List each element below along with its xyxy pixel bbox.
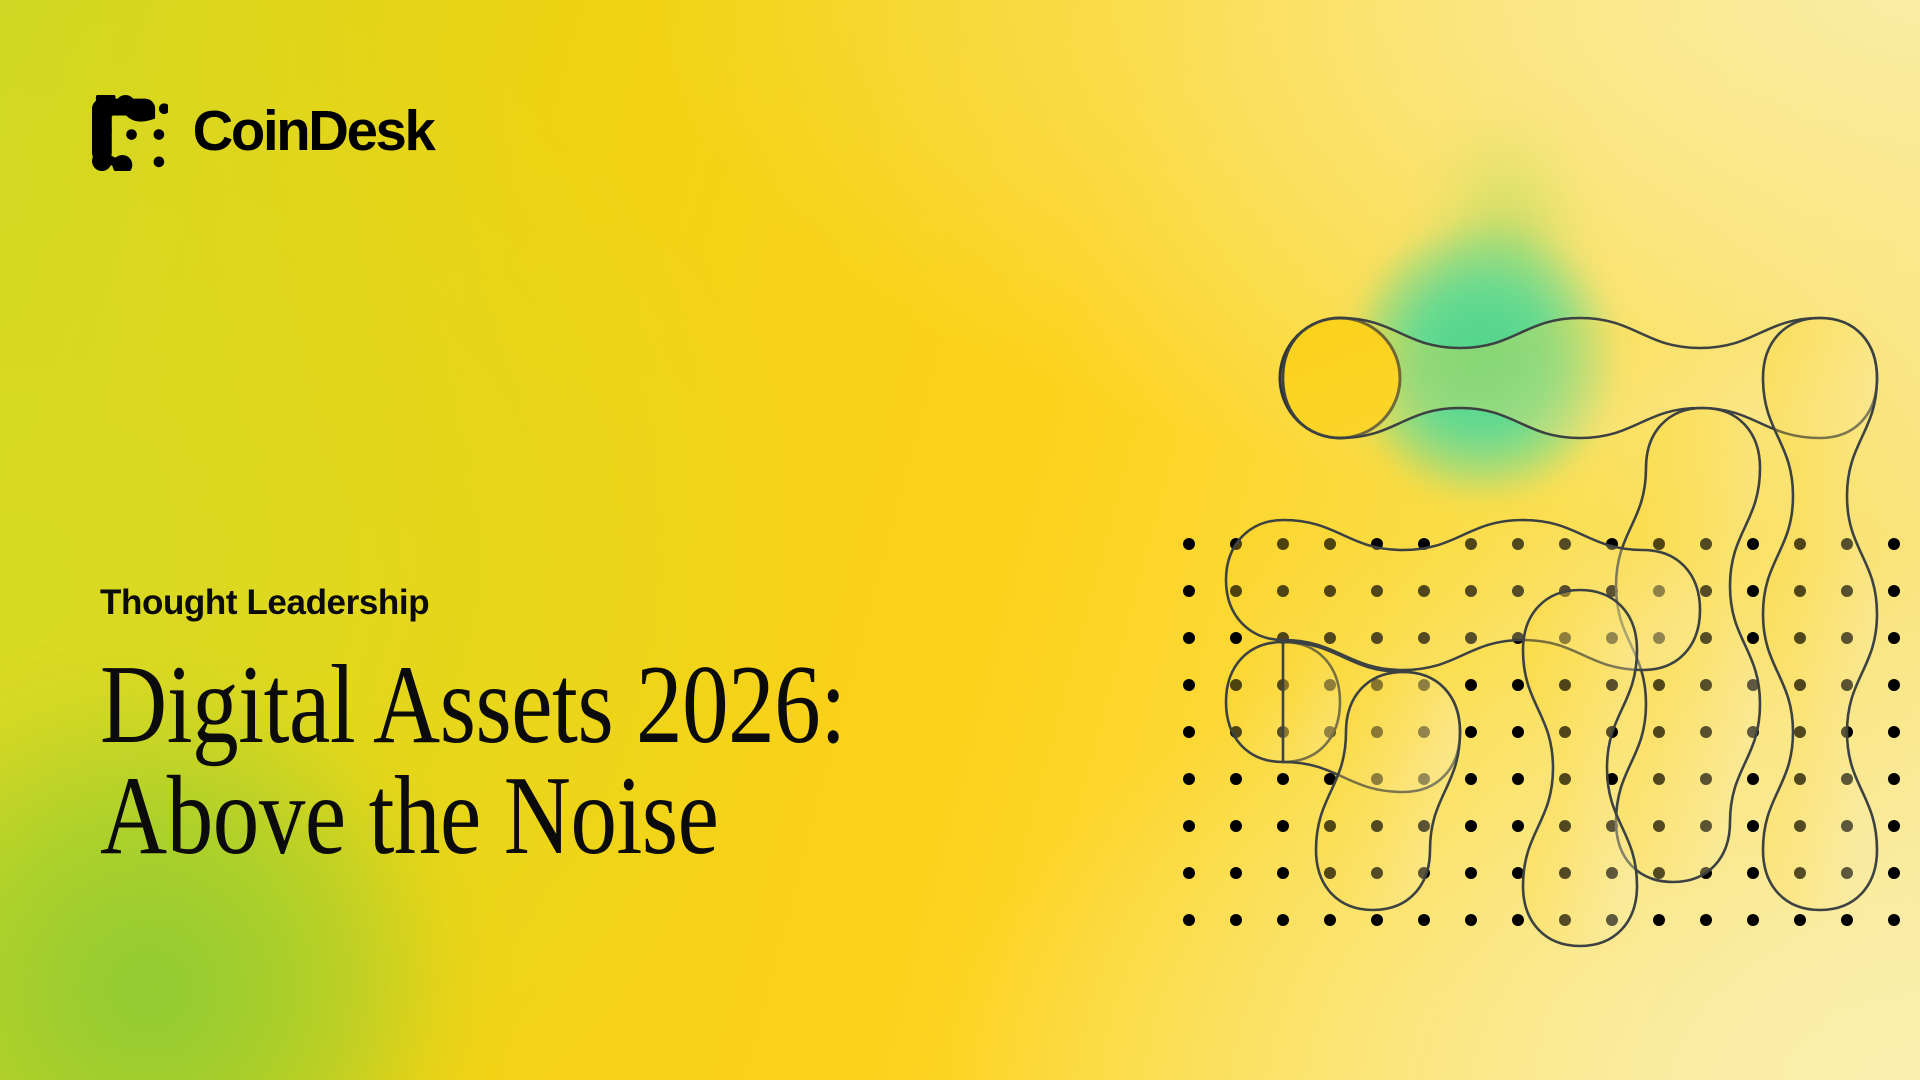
hero-text-block: Thought Leadership Digital Assets 2026: … <box>100 585 998 872</box>
grid-dot <box>1888 914 1900 926</box>
coindesk-logo[interactable]: CoinDesk <box>92 95 520 171</box>
grid-dot <box>1747 632 1759 644</box>
grid-dot <box>1183 773 1195 785</box>
grid-dot <box>1888 726 1900 738</box>
grid-dot <box>1183 632 1195 644</box>
grid-dot <box>1465 914 1477 926</box>
eyebrow-label: Thought Leadership <box>100 585 998 620</box>
coindesk-wordmark: CoinDesk <box>190 104 520 162</box>
grid-dot <box>1888 679 1900 691</box>
grid-dot <box>1183 585 1195 597</box>
grid-dot <box>1371 914 1383 926</box>
grid-dot <box>1465 867 1477 879</box>
grid-dot <box>1747 867 1759 879</box>
grid-dot <box>1230 773 1242 785</box>
grid-dot <box>1888 585 1900 597</box>
grid-dot <box>1230 867 1242 879</box>
grid-dot <box>1888 773 1900 785</box>
grid-dot <box>1747 585 1759 597</box>
grid-dot <box>1747 914 1759 926</box>
grid-dot <box>1747 538 1759 550</box>
grid-dot <box>1512 773 1524 785</box>
grid-dot <box>1183 914 1195 926</box>
svg-text:CoinDesk: CoinDesk <box>193 104 437 162</box>
grid-dot <box>1230 820 1242 832</box>
grid-dot <box>1747 820 1759 832</box>
coindesk-dot-matrix-logo-icon <box>92 95 168 171</box>
grid-dot <box>1183 726 1195 738</box>
grid-dot <box>1183 820 1195 832</box>
grid-dot <box>1465 820 1477 832</box>
grid-dot <box>1230 914 1242 926</box>
grid-dot <box>1277 914 1289 926</box>
grid-dot <box>1183 679 1195 691</box>
grid-dot <box>1183 538 1195 550</box>
grid-dot <box>1653 914 1665 926</box>
grid-dot <box>1888 820 1900 832</box>
grid-dot <box>1700 914 1712 926</box>
grid-dot <box>1512 914 1524 926</box>
grid-dot <box>1841 914 1853 926</box>
grid-dot <box>1512 820 1524 832</box>
grid-dot <box>1888 867 1900 879</box>
abstract-metaball-dot-grid-graphic <box>1155 290 1920 960</box>
grid-dot <box>1888 538 1900 550</box>
grid-dot <box>1418 914 1430 926</box>
grid-dot <box>1230 632 1242 644</box>
grid-dot <box>1747 773 1759 785</box>
grid-dot <box>1324 914 1336 926</box>
grid-dot <box>1465 773 1477 785</box>
grid-dot <box>1183 867 1195 879</box>
page-title: Digital Assets 2026: Above the Noise <box>100 650 846 872</box>
grid-dot <box>1888 632 1900 644</box>
grid-dot <box>1794 914 1806 926</box>
